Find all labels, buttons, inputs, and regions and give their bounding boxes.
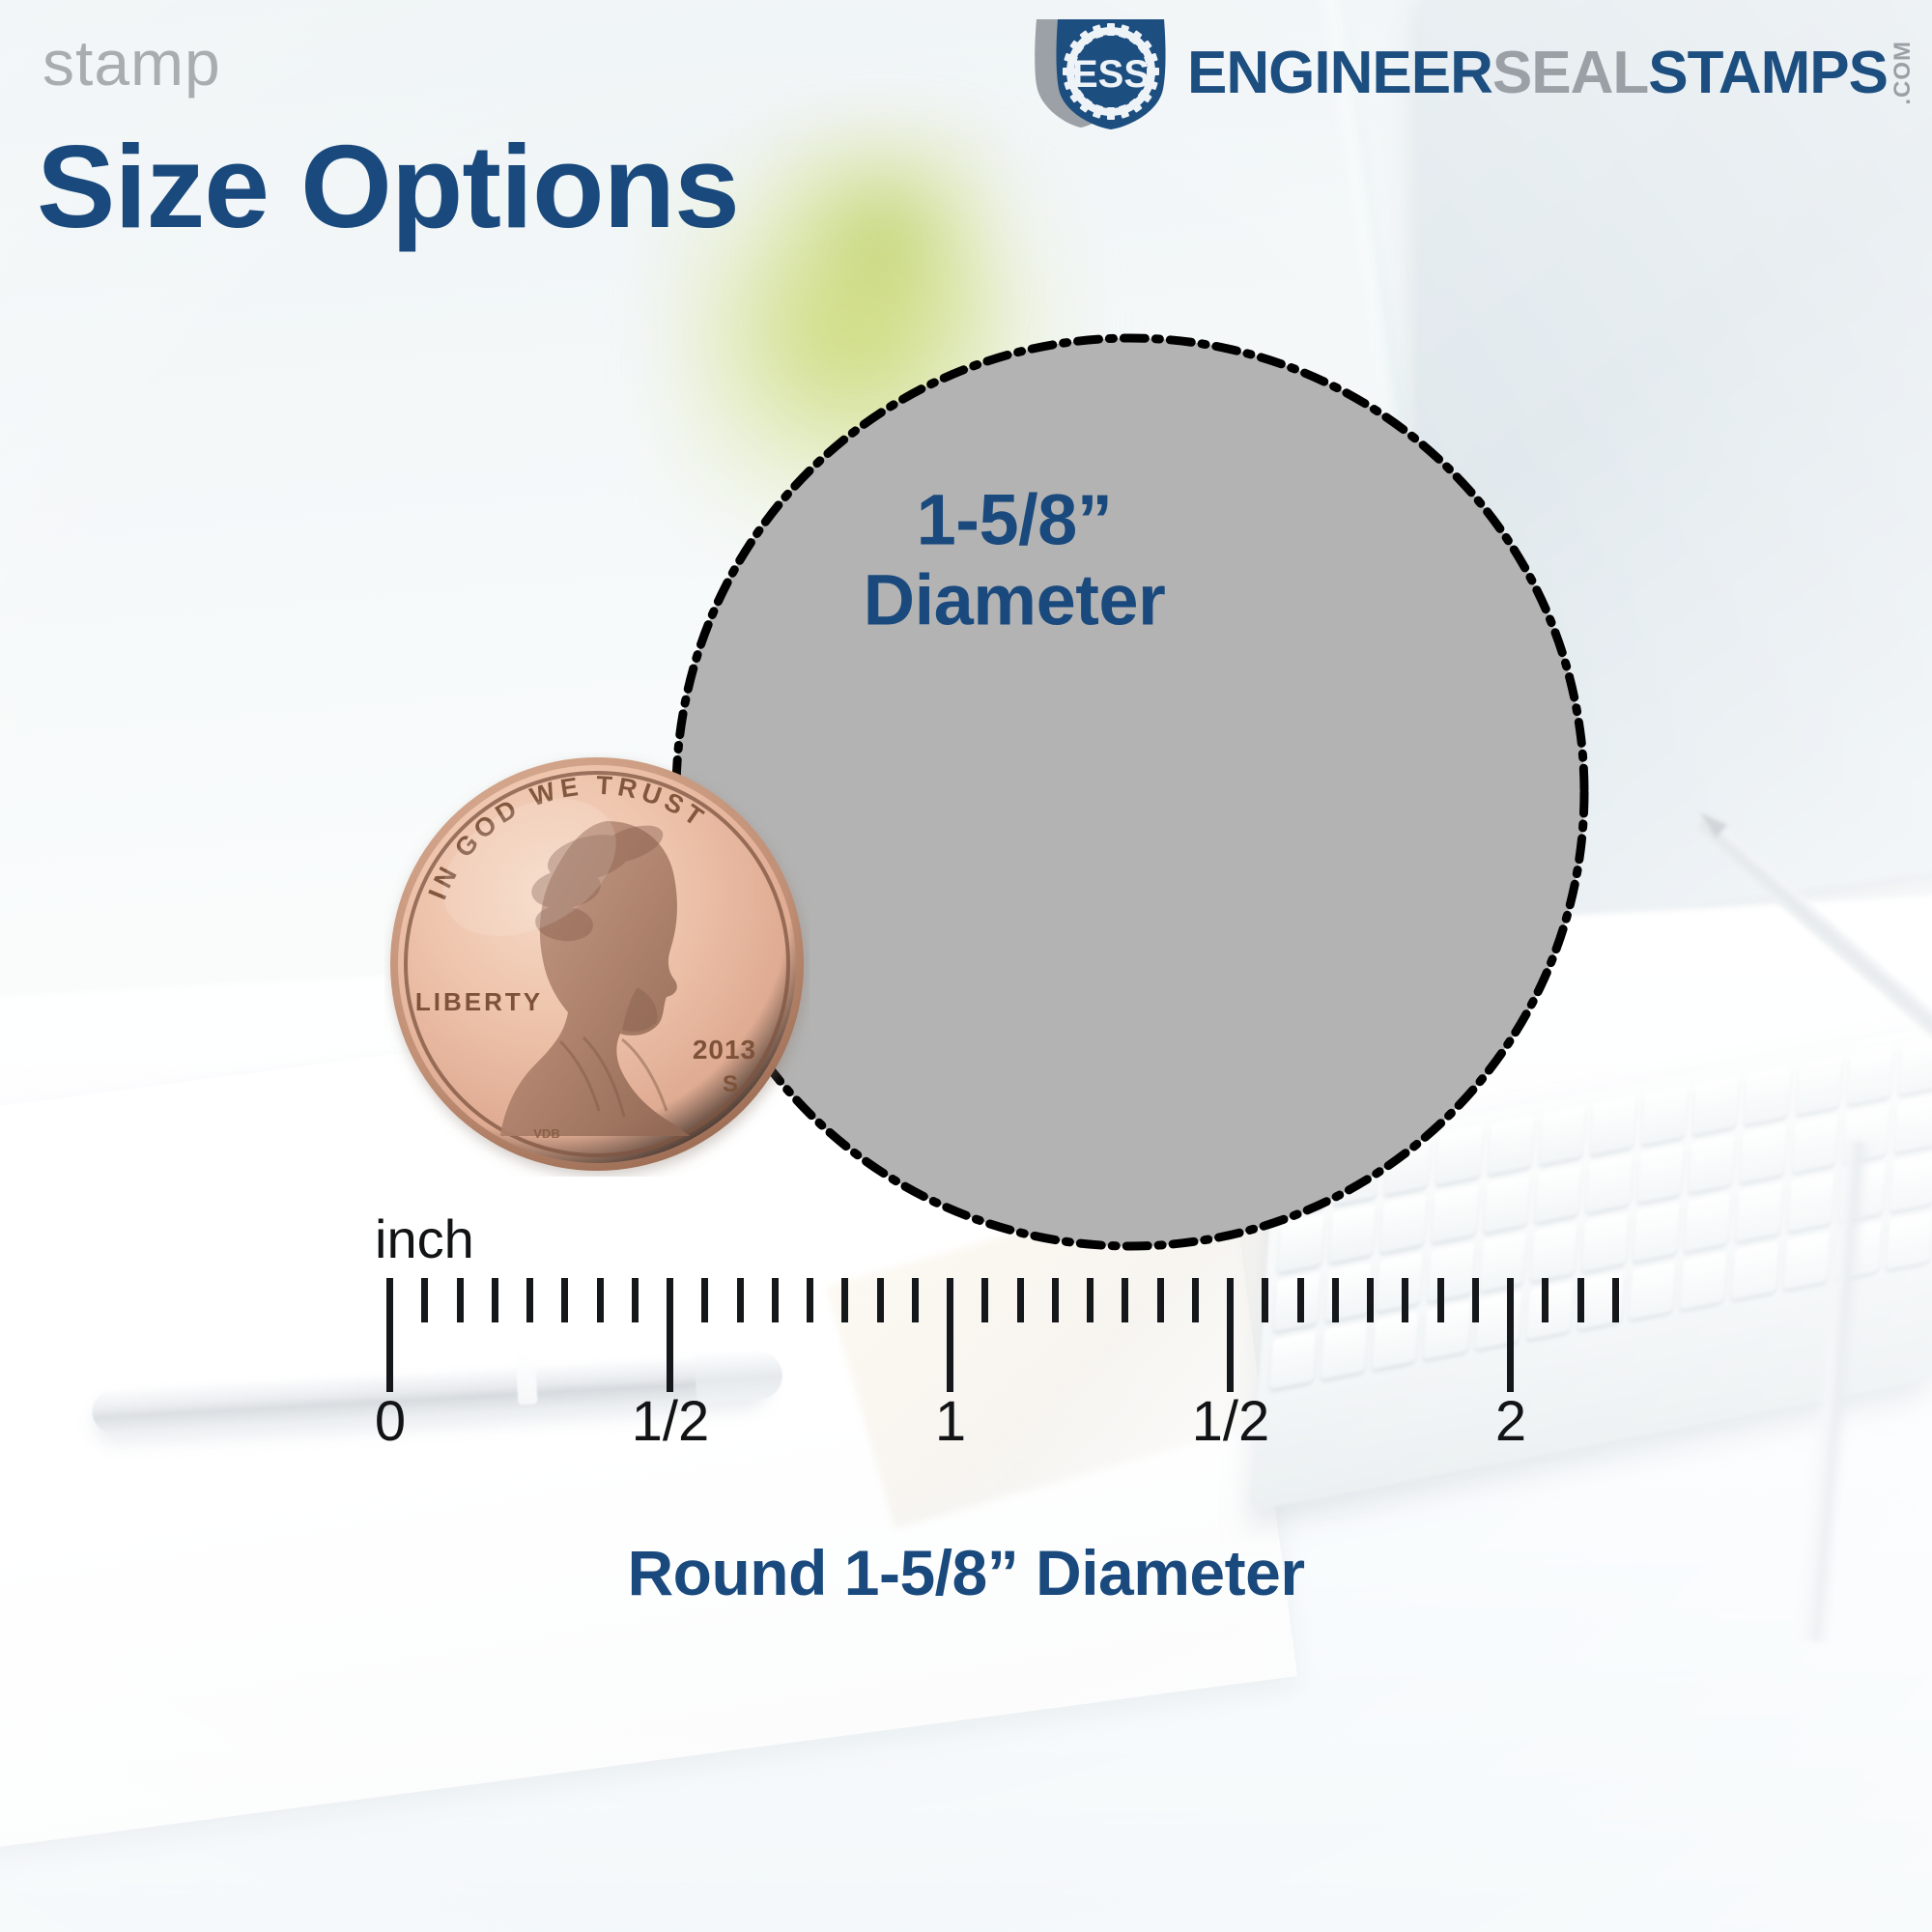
ruler-minor-tick xyxy=(701,1278,708,1322)
ruler-minor-tick xyxy=(807,1278,813,1322)
ruler-minor-tick xyxy=(561,1278,568,1322)
size-label-group: 1-5/8” Diameter xyxy=(0,0,1932,829)
ruler-minor-tick xyxy=(597,1278,604,1322)
us-penny-coin: IN GOD WE TRUST LIBE xyxy=(384,752,810,1177)
ruler-minor-tick xyxy=(877,1278,884,1322)
ruler-minor-tick xyxy=(1472,1278,1479,1322)
svg-text:VDB: VDB xyxy=(533,1126,559,1141)
ruler-minor-tick xyxy=(632,1278,639,1322)
ruler-major-tick xyxy=(386,1278,393,1392)
ruler-minor-tick xyxy=(1542,1278,1548,1322)
ruler-minor-tick xyxy=(421,1278,428,1322)
ruler-minor-tick xyxy=(841,1278,848,1322)
ruler-minor-tick xyxy=(912,1278,919,1322)
ruler-minor-tick xyxy=(1157,1278,1164,1322)
size-options-graphic: stamp Size Options xyxy=(0,0,1932,1932)
ruler-minor-tick xyxy=(1122,1278,1128,1322)
ruler-minor-tick xyxy=(457,1278,464,1322)
ruler-unit-label: inch xyxy=(375,1212,474,1266)
ruler-minor-tick xyxy=(1437,1278,1444,1322)
ruler-major-tick xyxy=(667,1278,673,1392)
ruler-major-tick xyxy=(1507,1278,1514,1392)
ruler-minor-tick xyxy=(1332,1278,1339,1322)
ruler-minor-tick xyxy=(737,1278,744,1322)
ruler-minor-tick xyxy=(1262,1278,1268,1322)
ruler-minor-tick xyxy=(1577,1278,1584,1322)
svg-text:LIBERTY: LIBERTY xyxy=(415,987,543,1016)
svg-text:S: S xyxy=(723,1071,738,1097)
ruler-minor-tick xyxy=(1052,1278,1059,1322)
ruler-minor-tick xyxy=(1192,1278,1199,1322)
ruler-tick-label: 1 xyxy=(935,1394,966,1450)
ruler-major-tick xyxy=(947,1278,953,1392)
ruler-tick-label: 1/2 xyxy=(632,1394,710,1450)
ruler-minor-tick xyxy=(981,1278,988,1322)
ruler-minor-tick xyxy=(1612,1278,1619,1322)
size-caption: Round 1-5/8” Diameter xyxy=(0,1536,1932,1609)
ruler-minor-tick xyxy=(526,1278,533,1322)
svg-text:2013: 2013 xyxy=(693,1035,756,1065)
inch-ruler: inch 01/211/22 xyxy=(0,1212,1932,1502)
ruler-tick-label: 0 xyxy=(375,1394,406,1450)
size-dimension-word: Diameter xyxy=(763,560,1265,640)
ruler-minor-tick xyxy=(1087,1278,1094,1322)
size-dimension-label: 1-5/8” xyxy=(763,481,1265,561)
ruler-tick-label: 1/2 xyxy=(1192,1394,1270,1450)
ruler-minor-tick xyxy=(1402,1278,1408,1322)
ruler-minor-tick xyxy=(1297,1278,1304,1322)
ruler-minor-tick xyxy=(772,1278,779,1322)
ruler-major-tick xyxy=(1227,1278,1234,1392)
ruler-minor-tick xyxy=(1017,1278,1024,1322)
ruler-minor-tick xyxy=(492,1278,498,1322)
ruler-minor-tick xyxy=(1367,1278,1374,1322)
ruler-tick-label: 2 xyxy=(1495,1394,1526,1450)
